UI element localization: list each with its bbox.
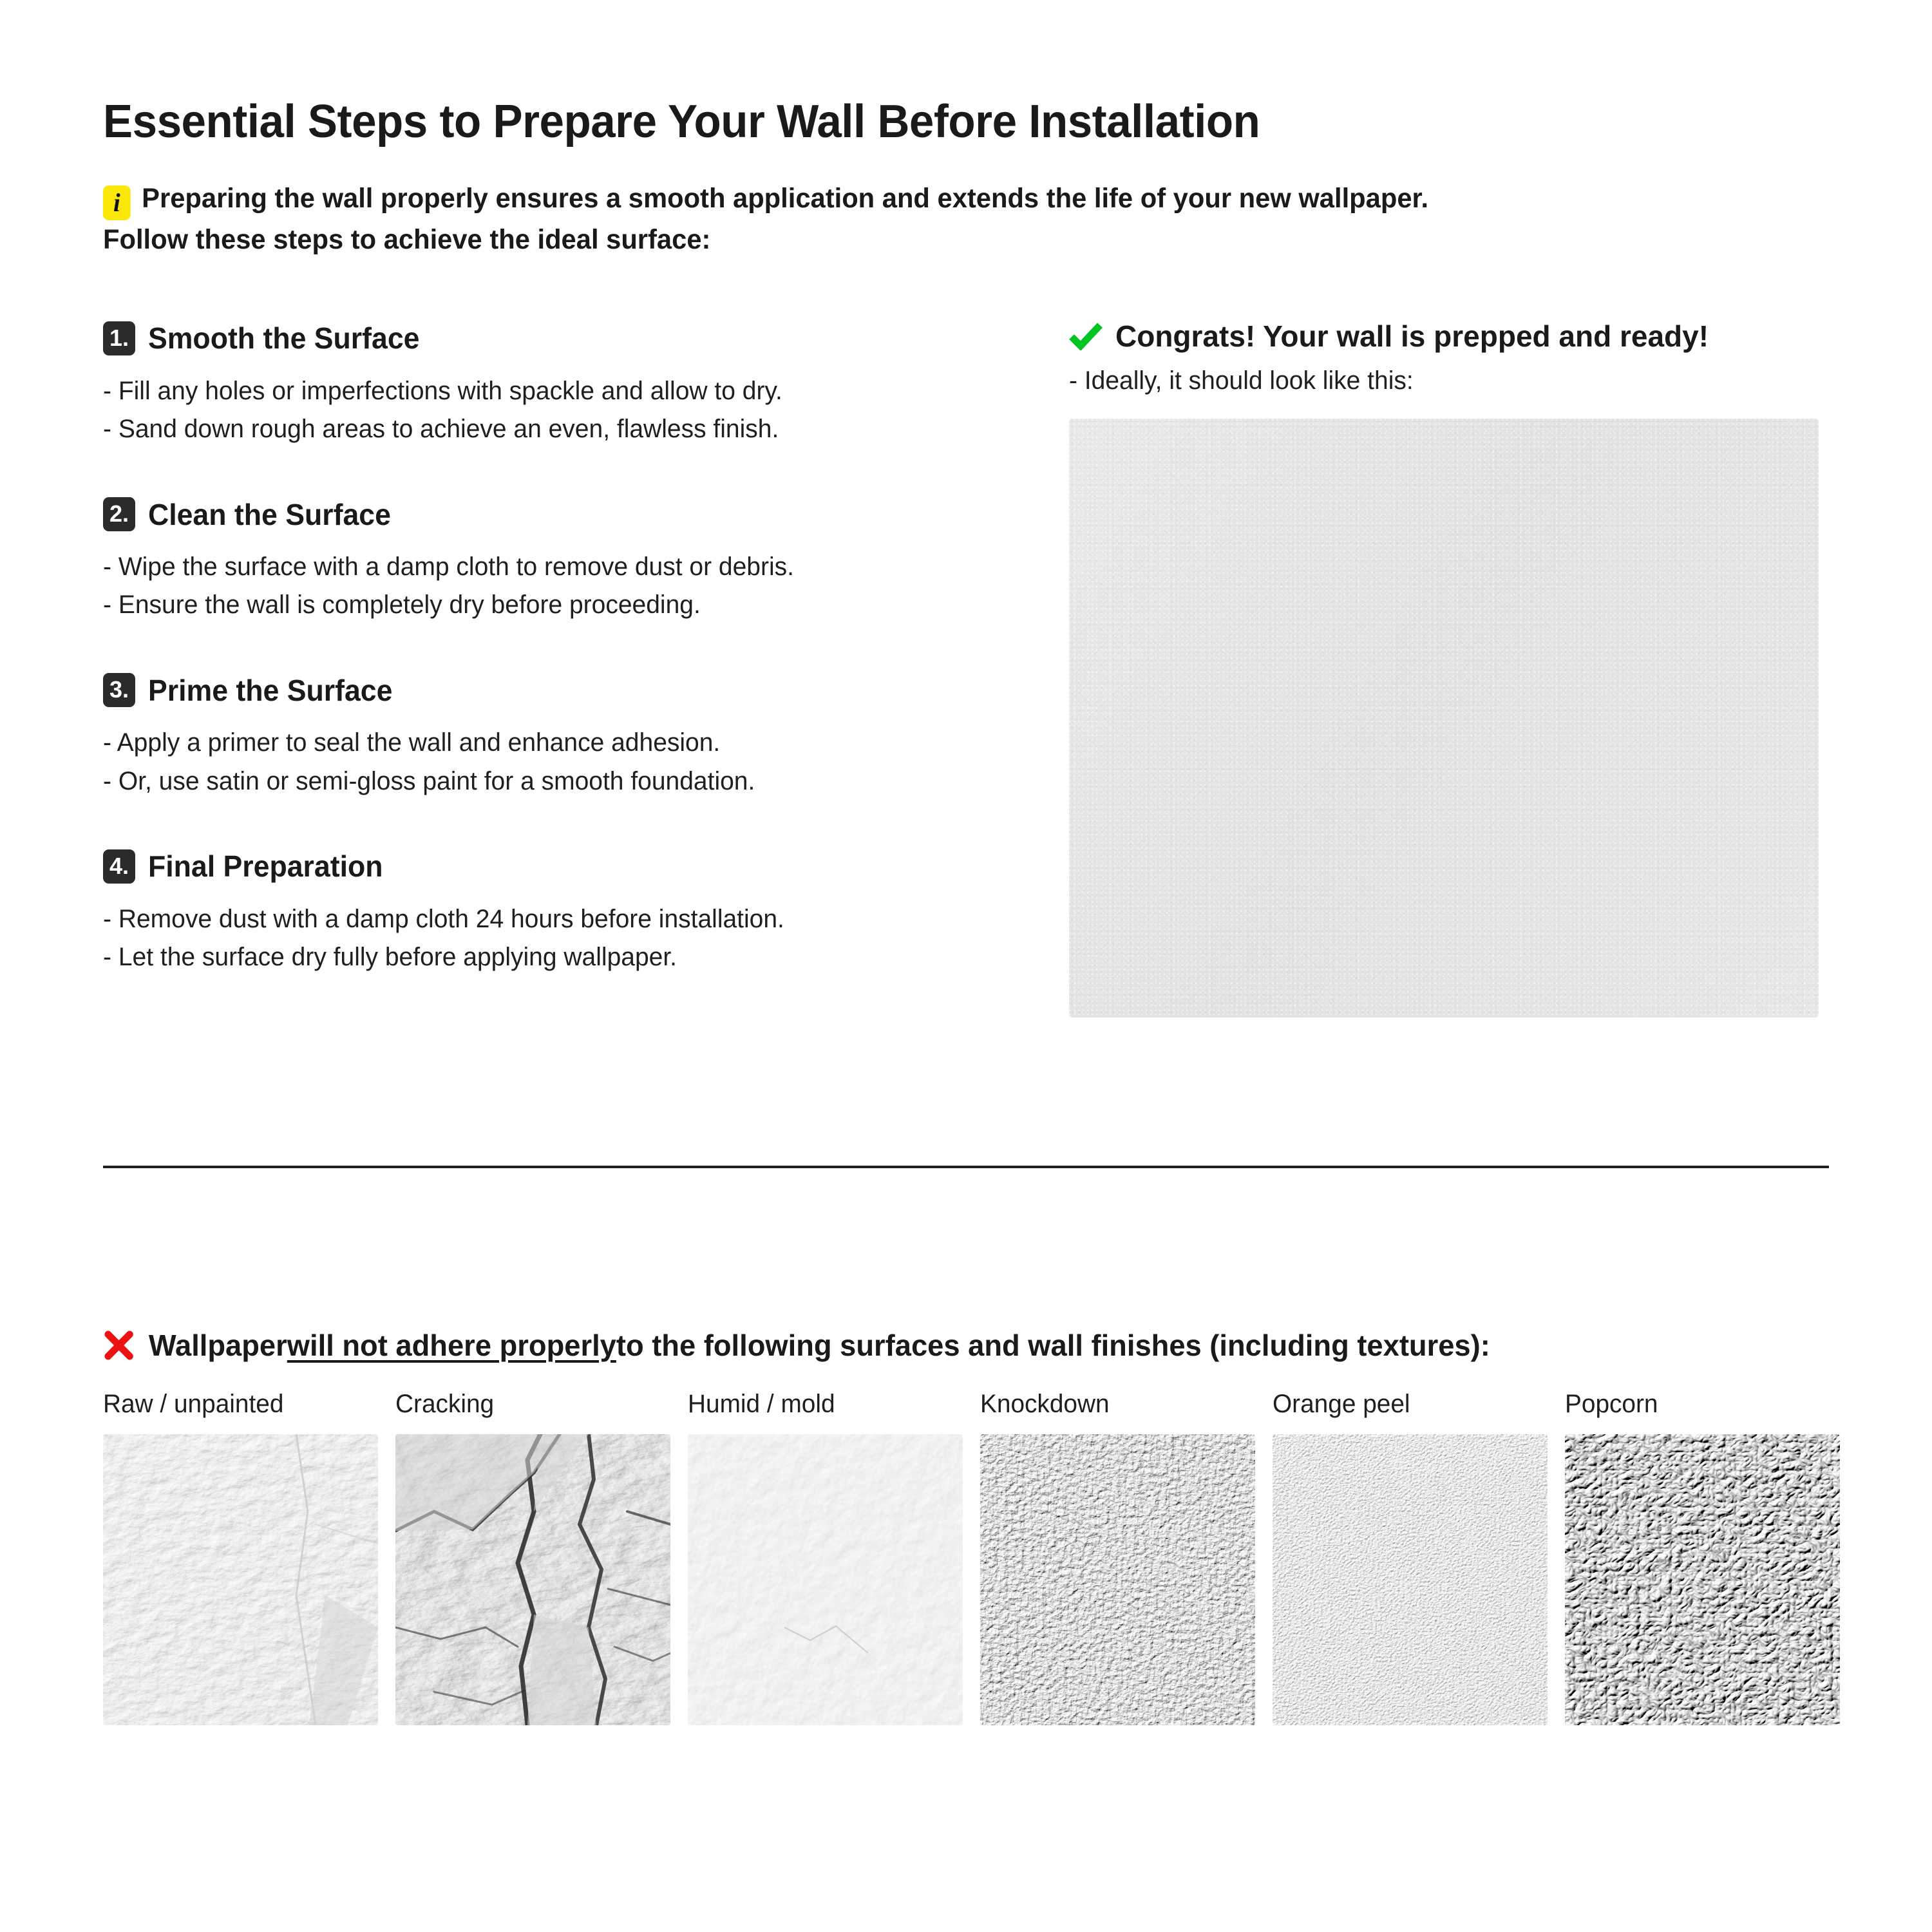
page-title: Essential Steps to Prepare Your Wall Bef… bbox=[103, 0, 1760, 147]
swatch-label: Orange peel bbox=[1273, 1390, 1539, 1419]
intro-line-1: Preparing the wall properly ensures a sm… bbox=[142, 183, 1428, 214]
swatch-label: Popcorn bbox=[1565, 1390, 1832, 1419]
step-heading: 3. Prime the Surface bbox=[103, 673, 1018, 707]
swatch-image-mold-speckle bbox=[688, 1434, 963, 1725]
step-detail-line: - Remove dust with a damp cloth 24 hours… bbox=[103, 900, 995, 938]
green-check-icon bbox=[1069, 322, 1103, 350]
intro-line-2: Follow these steps to achieve the ideal … bbox=[103, 224, 710, 255]
step-detail-line: - Let the surface dry fully before apply… bbox=[103, 938, 995, 976]
surface-swatch: Popcorn bbox=[1565, 1390, 1840, 1725]
section-divider bbox=[103, 1166, 1829, 1168]
surface-swatch: Humid / mold bbox=[688, 1390, 963, 1725]
warning-text-after: to the following surfaces and wall finis… bbox=[616, 1331, 1490, 1360]
step-number-badge: 4. bbox=[103, 849, 135, 884]
step-item: 3. Prime the Surface - Apply a primer to… bbox=[103, 673, 1018, 800]
step-title: Clean the Surface bbox=[148, 500, 391, 529]
swatch-image-orange-peel bbox=[1273, 1434, 1548, 1725]
step-detail-lines: - Apply a primer to seal the wall and en… bbox=[103, 724, 995, 800]
step-item: 1. Smooth the Surface - Fill any holes o… bbox=[103, 321, 1018, 448]
warning-emphasis: will not adhere properly bbox=[287, 1331, 616, 1360]
surface-swatch: Orange peel bbox=[1273, 1390, 1548, 1725]
warning-text-before: Wallpaper bbox=[149, 1331, 287, 1360]
surface-swatch: Cracking bbox=[395, 1390, 670, 1725]
swatch-image-raw-concrete bbox=[103, 1434, 378, 1725]
steps-column: 1. Smooth the Surface - Fill any holes o… bbox=[103, 321, 1018, 977]
red-x-icon bbox=[103, 1329, 135, 1361]
step-detail-lines: - Wipe the surface with a damp cloth to … bbox=[103, 548, 995, 624]
step-item: 2. Clean the Surface - Wipe the surface … bbox=[103, 497, 1018, 624]
step-title: Final Preparation bbox=[148, 851, 383, 881]
step-detail-lines: - Fill any holes or imperfections with s… bbox=[103, 372, 995, 448]
warning-heading: Wallpaper will not adhere properly to th… bbox=[103, 1329, 1803, 1361]
surface-swatch-row: Raw / unpainted bbox=[103, 1390, 1829, 1725]
swatch-label: Knockdown bbox=[980, 1390, 1247, 1419]
swatch-image-knockdown bbox=[980, 1434, 1255, 1725]
intro-paragraph: iPreparing the wall properly ensures a s… bbox=[103, 179, 1777, 260]
step-number-badge: 1. bbox=[103, 321, 135, 355]
swatch-image-popcorn bbox=[1565, 1434, 1840, 1725]
info-badge-icon: i bbox=[103, 185, 131, 220]
surface-swatch: Knockdown bbox=[980, 1390, 1255, 1725]
step-detail-lines: - Remove dust with a damp cloth 24 hours… bbox=[103, 900, 995, 976]
step-heading: 2. Clean the Surface bbox=[103, 497, 1018, 531]
wall-preparation-guide: Essential Steps to Prepare Your Wall Bef… bbox=[0, 0, 1932, 1932]
surface-swatch: Raw / unpainted bbox=[103, 1390, 378, 1725]
ideal-wall-preview bbox=[1069, 419, 1819, 1018]
step-heading: 4. Final Preparation bbox=[103, 849, 1018, 884]
swatch-label: Humid / mold bbox=[688, 1390, 954, 1419]
swatch-image-cracking-paint bbox=[395, 1434, 670, 1725]
swatch-label: Cracking bbox=[395, 1390, 662, 1419]
step-number-badge: 3. bbox=[103, 673, 135, 707]
congrats-heading: Congrats! Your wall is prepped and ready… bbox=[1069, 321, 1829, 351]
step-item: 4. Final Preparation - Remove dust with … bbox=[103, 849, 1018, 976]
step-number-badge: 2. bbox=[103, 497, 135, 531]
congrats-heading-text: Congrats! Your wall is prepped and ready… bbox=[1115, 321, 1709, 351]
step-title: Prime the Surface bbox=[148, 676, 392, 705]
unsuitable-surfaces-section: Wallpaper will not adhere properly to th… bbox=[103, 1329, 1829, 1725]
step-detail-line: - Or, use satin or semi-gloss paint for … bbox=[103, 762, 995, 800]
congrats-subtext: - Ideally, it should look like this: bbox=[1069, 366, 1810, 395]
step-title: Smooth the Surface bbox=[148, 323, 419, 353]
step-detail-line: - Apply a primer to seal the wall and en… bbox=[103, 724, 995, 762]
content-columns: 1. Smooth the Surface - Fill any holes o… bbox=[103, 321, 1829, 1018]
step-detail-line: - Sand down rough areas to achieve an ev… bbox=[103, 410, 995, 448]
step-heading: 1. Smooth the Surface bbox=[103, 321, 1018, 355]
swatch-label: Raw / unpainted bbox=[103, 1390, 370, 1419]
step-detail-line: - Ensure the wall is completely dry befo… bbox=[103, 586, 995, 624]
step-detail-line: - Fill any holes or imperfections with s… bbox=[103, 372, 995, 410]
congrats-column: Congrats! Your wall is prepped and ready… bbox=[1018, 321, 1829, 1018]
step-detail-line: - Wipe the surface with a damp cloth to … bbox=[103, 548, 995, 586]
